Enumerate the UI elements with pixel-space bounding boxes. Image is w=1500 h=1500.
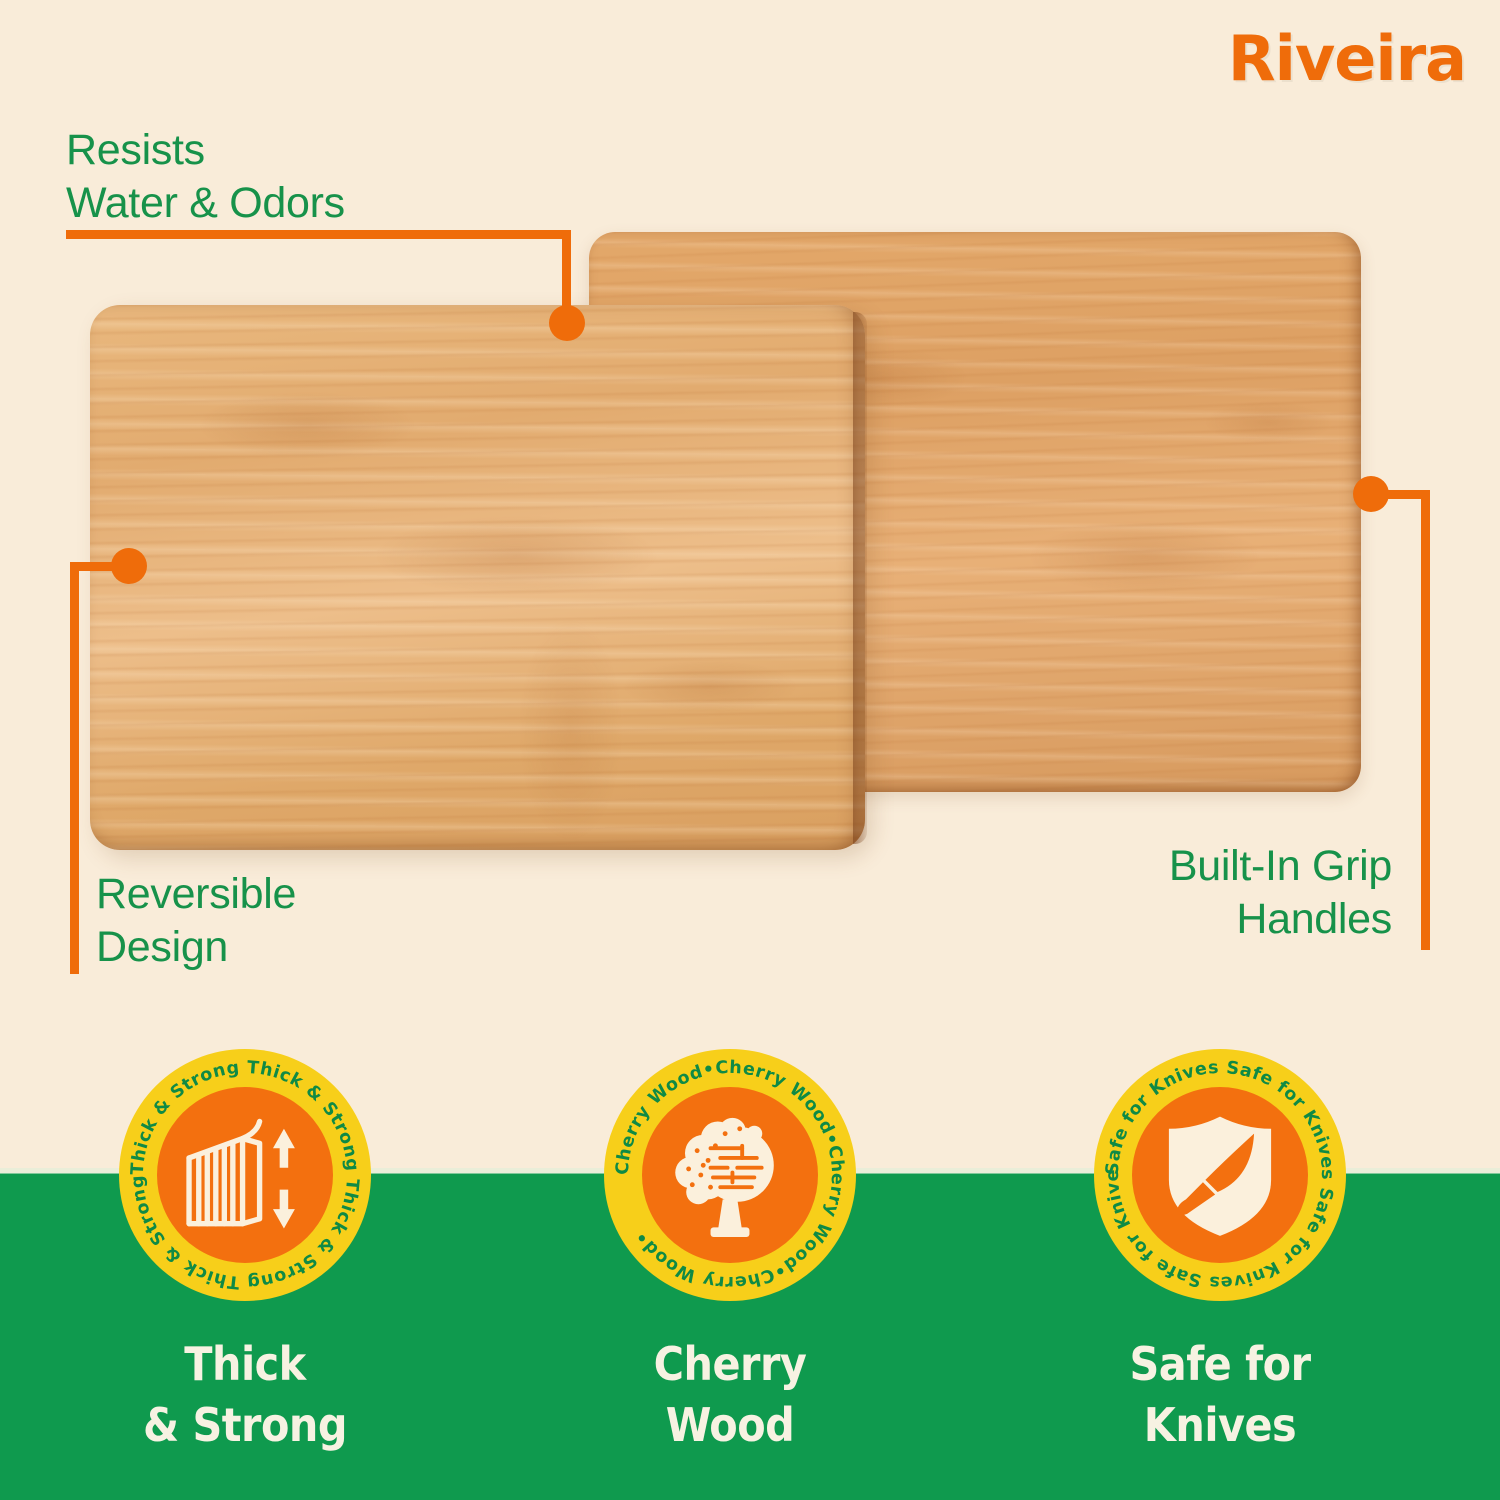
board-thickness-icon — [157, 1087, 333, 1263]
badge-caption-safe-for-knives: Safe for Knives — [1055, 1334, 1385, 1455]
cutting-board-front — [90, 305, 865, 850]
caption-line1: Cherry — [565, 1334, 895, 1395]
callout-resists-line1: Resists — [66, 124, 345, 177]
badge-thick-strong: Thick & Strong Thick & Strong Thick & St… — [119, 1049, 371, 1301]
callout-handles-leader-vertical — [1421, 490, 1430, 950]
caption-line2: Wood — [565, 1395, 895, 1456]
caption-line1: Thick — [80, 1334, 410, 1395]
shield-knife-icon — [1132, 1087, 1308, 1263]
callout-reversible-design: Reversible Design — [96, 868, 296, 974]
badge-cherry-wood: Cherry Wood•Cherry Wood•Cherry Wood•Cher… — [604, 1049, 856, 1301]
callout-reversible-leader-vertical — [70, 562, 79, 974]
cherry-tree-icon — [642, 1087, 818, 1263]
callout-resists-dot — [549, 305, 585, 341]
infographic-canvas: Riveira Resists Water & Odors Reversible… — [0, 0, 1500, 1500]
brand-logo: Riveira — [1228, 28, 1466, 90]
callout-resists-leader-horizontal — [66, 230, 571, 239]
callout-reversible-line2: Design — [96, 921, 296, 974]
callout-builtin-grip-handles: Built-In Grip Handles — [1169, 840, 1392, 946]
callout-resists-line2: Water & Odors — [66, 177, 345, 230]
caption-line1: Safe for — [1055, 1334, 1385, 1395]
callout-resists-water-odors: Resists Water & Odors — [66, 124, 345, 230]
badge-caption-cherry-wood: Cherry Wood — [565, 1334, 895, 1455]
callout-reversible-line1: Reversible — [96, 868, 296, 921]
cutting-board-front-edge — [853, 312, 867, 844]
caption-line2: Knives — [1055, 1395, 1385, 1456]
caption-line2: & Strong — [80, 1395, 410, 1456]
callout-handles-line2: Handles — [1169, 893, 1392, 946]
badge-safe-for-knives: Safe for Knives Safe for Knives Safe for… — [1094, 1049, 1346, 1301]
badge-caption-thick-strong: Thick & Strong — [80, 1334, 410, 1455]
callout-handles-line1: Built-In Grip — [1169, 840, 1392, 893]
